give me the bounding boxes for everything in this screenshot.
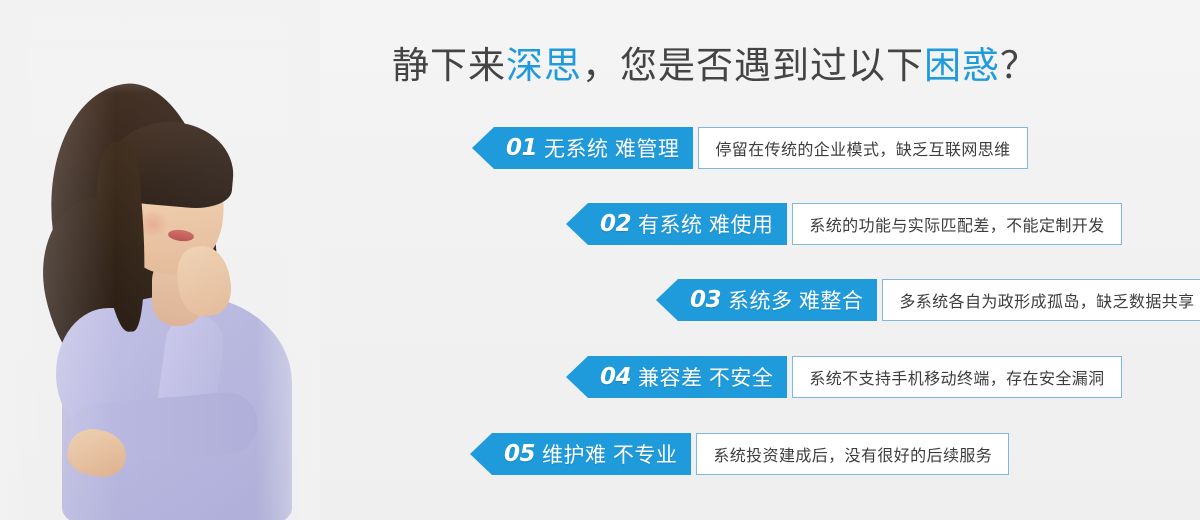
item-description: 系统投资建成后，没有很好的后续服务 (696, 433, 1009, 475)
item-description: 多系统各自为政形成孤岛，缺乏数据共享 (882, 279, 1200, 321)
list-item: 04 兼容差 不安全 系统不支持手机移动终端，存在安全漏洞 (566, 356, 1122, 398)
item-title: 兼容差 不安全 (638, 362, 773, 392)
item-title: 无系统 难管理 (544, 133, 679, 163)
item-title: 维护难 不专业 (542, 439, 677, 469)
list-item: 03 系统多 难整合 多系统各自为政形成孤岛，缺乏数据共享 (656, 279, 1200, 321)
item-number: 05 (504, 441, 535, 467)
problem-list: 01 无系统 难管理 停留在传统的企业模式，缺乏互联网思维 02 有系统 难使用… (0, 0, 1200, 520)
item-description: 系统不支持手机移动终端，存在安全漏洞 (792, 356, 1121, 398)
list-item: 01 无系统 难管理 停留在传统的企业模式，缺乏互联网思维 (472, 127, 1028, 169)
item-badge: 05 维护难 不专业 (470, 433, 691, 475)
item-number: 03 (690, 287, 721, 313)
item-description: 停留在传统的企业模式，缺乏互联网思维 (698, 127, 1027, 169)
item-number: 02 (600, 211, 631, 237)
item-description: 系统的功能与实际匹配差，不能定制开发 (792, 203, 1121, 245)
item-title: 有系统 难使用 (638, 209, 773, 239)
item-badge: 03 系统多 难整合 (656, 279, 877, 321)
item-badge: 01 无系统 难管理 (472, 127, 693, 169)
item-title: 系统多 难整合 (728, 285, 863, 315)
item-badge: 04 兼容差 不安全 (566, 356, 787, 398)
promo-banner: 静下来深思，您是否遇到过以下困惑？ 01 无系统 难管理 停留在传统的企业模式，… (0, 0, 1200, 520)
item-number: 04 (600, 364, 631, 390)
list-item: 02 有系统 难使用 系统的功能与实际匹配差，不能定制开发 (566, 203, 1122, 245)
list-item: 05 维护难 不专业 系统投资建成后，没有很好的后续服务 (470, 433, 1009, 475)
item-badge: 02 有系统 难使用 (566, 203, 787, 245)
item-number: 01 (506, 135, 537, 161)
